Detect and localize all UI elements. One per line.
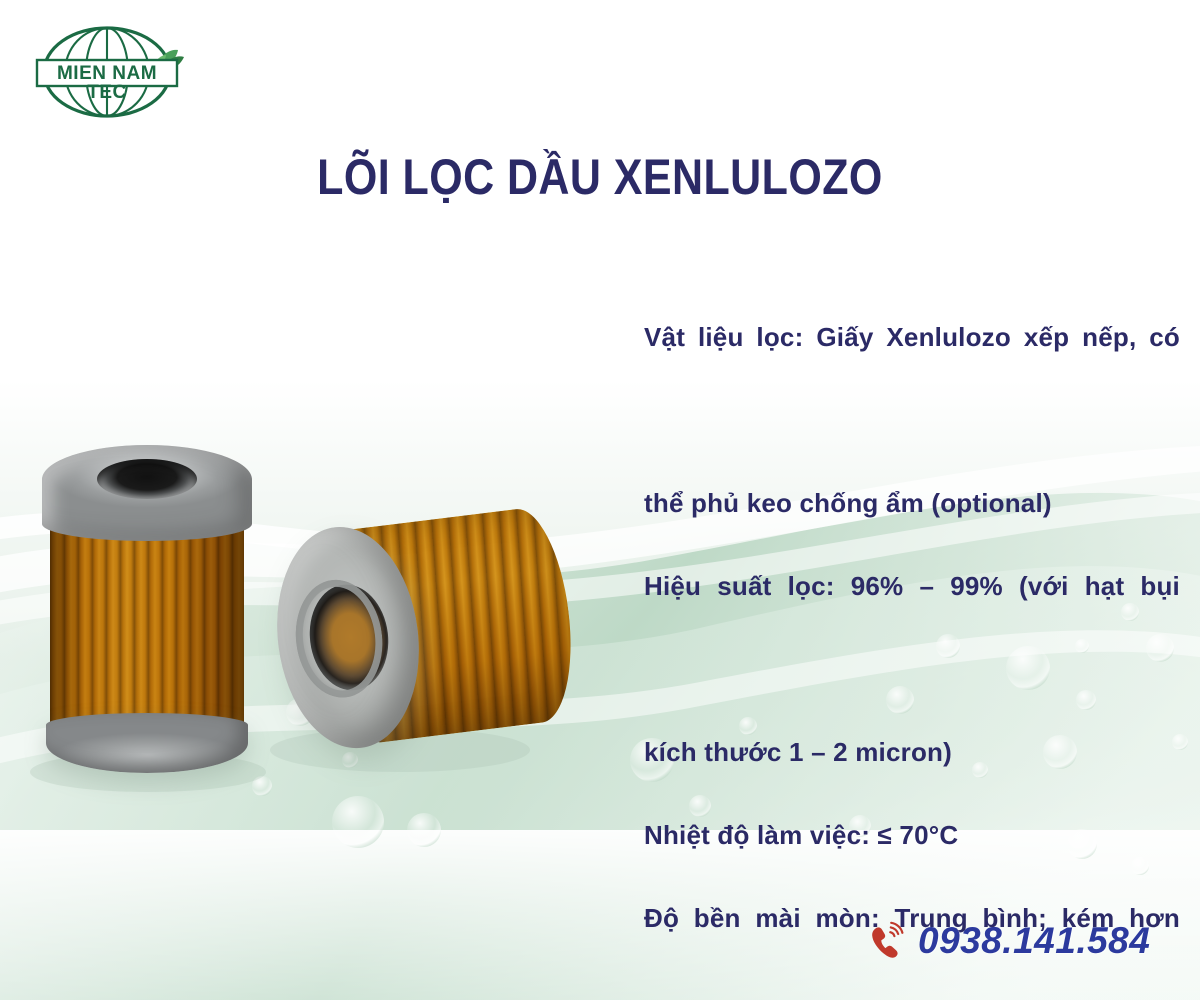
filter-cartridge-upright	[42, 445, 252, 765]
spec-line: Vật liệu lọc: Giấy Xenlulozo xếp nếp, có	[644, 296, 1180, 462]
brand-logo[interactable]: MIEN NAM TEC	[28, 22, 198, 122]
spec-line: thể phủ keo chống ẩm (optional)	[644, 462, 1180, 545]
product-photo	[0, 400, 620, 820]
phone-icon	[866, 921, 906, 961]
filter-cartridge-tilted	[255, 501, 581, 766]
end-cap-bottom	[46, 713, 248, 773]
contact-phone[interactable]: 0938.141.584	[866, 920, 1150, 962]
phone-number[interactable]: 0938.141.584	[918, 920, 1150, 962]
spec-line: Hiệu suất lọc: 96% – 99% (với hạt bụi	[644, 545, 1180, 711]
poster-canvas: MIEN NAM TEC LÕI LỌC DẦU XENLULOZO Vật l…	[0, 0, 1200, 1000]
page-title: LÕI LỌC DẦU XENLULOZO	[84, 148, 1116, 206]
logo-wordmark: MIEN NAM TEC	[42, 64, 172, 102]
spec-line: kích thước 1 – 2 micron)	[644, 711, 1180, 794]
end-cap-top	[42, 445, 252, 541]
spec-list: Vật liệu lọc: Giấy Xenlulozo xếp nếp, có…	[644, 296, 1180, 1000]
spec-line: Nhiệt độ làm việc: ≤ 70°C	[644, 794, 1180, 877]
